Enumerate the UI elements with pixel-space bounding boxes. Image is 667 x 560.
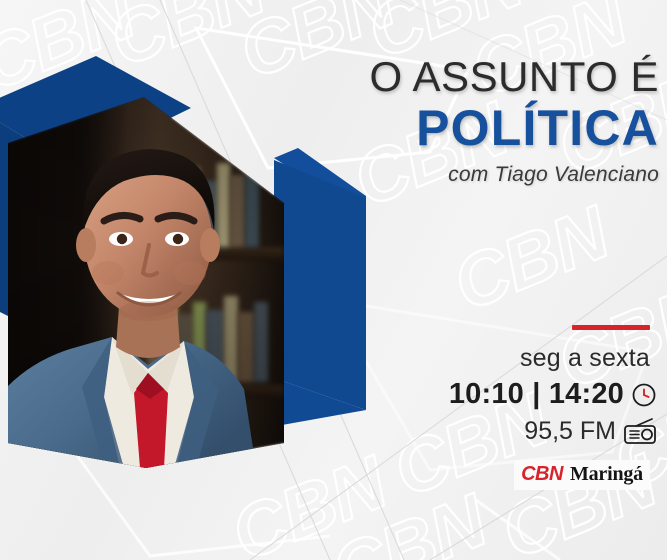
headline-line-1: O ASSUNTO É	[259, 56, 659, 98]
radio-icon	[623, 418, 657, 445]
schedule-days: seg a sexta	[327, 344, 650, 373]
headline-line-2-title: POLÍTICA	[259, 102, 659, 155]
schedule-frequency: 95,5 FM	[524, 417, 616, 446]
promo-banner: CBNCBNCBNCBNCBNCBNCBNCBNCBNCBNCBNCBNCBNC…	[0, 0, 667, 560]
schedule-times-row: 10:10 | 14:20	[327, 378, 657, 411]
schedule-block: seg a sexta 10:10 | 14:20 95,5 FM CB	[327, 325, 657, 490]
logo-city-text: Maringá	[570, 463, 643, 486]
clock-icon	[631, 382, 657, 408]
logo-brand-text: CBN	[521, 463, 563, 486]
station-logo-row: CBN Maringá	[327, 460, 650, 490]
headline-block: O ASSUNTO É POLÍTICA com Tiago Valencian…	[259, 56, 659, 187]
red-accent-bar	[572, 325, 650, 330]
headline-host-credit: com Tiago Valenciano	[259, 163, 659, 187]
schedule-times: 10:10 | 14:20	[449, 378, 624, 411]
schedule-frequency-row: 95,5 FM	[327, 417, 657, 446]
station-logo: CBN Maringá	[514, 460, 650, 490]
